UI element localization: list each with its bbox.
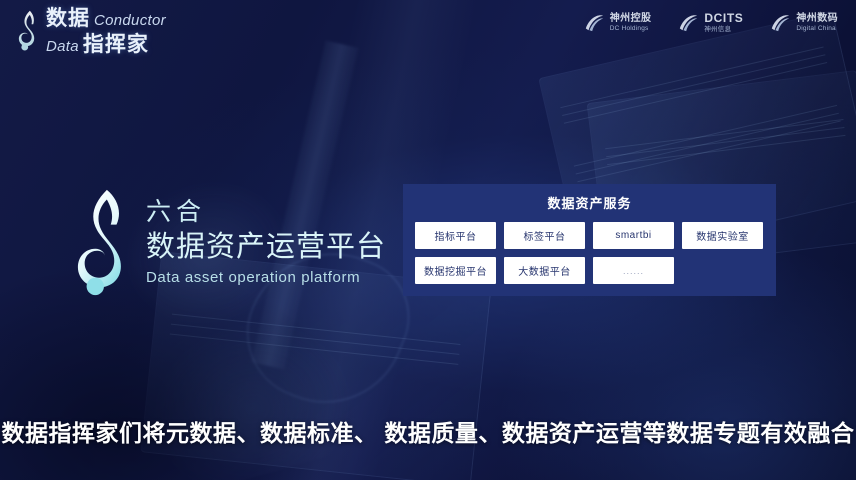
swoosh-icon [583, 13, 605, 33]
brand-text: 数据 Conductor Data 指挥家 [46, 6, 166, 55]
partner-logo-digital-china: 神州数码 Digital China [769, 13, 838, 33]
data-asset-service-panel: 数据资产服务 指标平台 标签平台 smartbi 数据实验室 数据挖掘平台 大数… [403, 184, 776, 296]
partner-name-en: Digital China [796, 25, 838, 32]
product-title: 数据资产运营平台 [146, 229, 386, 265]
partner-text: 神州数码 Digital China [796, 13, 838, 32]
brand-line-1: 数据 Conductor [46, 8, 166, 29]
partner-logos: 神州控股 DC Holdings DCITS 神州信息 神州数码 Digital… [583, 12, 838, 33]
brand-cn-1: 数据 [46, 8, 90, 29]
service-card-tag-platform[interactable]: 标签平台 [504, 222, 585, 249]
service-card-data-mining-platform[interactable]: 数据挖掘平台 [415, 257, 496, 284]
service-card-data-lab[interactable]: 数据实验室 [682, 222, 763, 249]
panel-title: 数据资产服务 [403, 184, 776, 212]
service-card-empty-slot [682, 257, 763, 284]
treble-clef-icon [16, 9, 42, 53]
brand-logo: 数据 Conductor Data 指挥家 [16, 6, 166, 55]
partner-text: 神州控股 DC Holdings [610, 13, 652, 32]
partner-text: DCITS 神州信息 [704, 12, 743, 33]
partner-logo-dcits: DCITS 神州信息 [677, 12, 743, 33]
slide-caption: 数据指挥家们将元数据、数据标准、 数据质量、数据资产运营等数据专题有效融合 [0, 414, 856, 448]
product-titles: 六合 数据资产运营平台 Data asset operation platfor… [146, 198, 386, 286]
product-title-block: 六合 数据资产运营平台 Data asset operation platfor… [74, 186, 386, 298]
brand-cn-2: 指挥家 [83, 34, 149, 55]
treble-clef-icon [74, 186, 132, 298]
service-card-grid: 指标平台 标签平台 smartbi 数据实验室 数据挖掘平台 大数据平台 ...… [403, 212, 776, 284]
service-card-indicator-platform[interactable]: 指标平台 [415, 222, 496, 249]
service-card-big-data-platform[interactable]: 大数据平台 [504, 257, 585, 284]
swoosh-icon [677, 13, 699, 33]
slide-root: 数据 Conductor Data 指挥家 神州控股 DC Holdings [0, 0, 856, 480]
partner-name-cn: 神州数码 [796, 13, 838, 25]
service-card-more[interactable]: ...... [593, 257, 674, 284]
brand-line-2: Data 指挥家 [46, 34, 166, 55]
partner-name-cn: DCITS [704, 12, 743, 26]
swoosh-icon [769, 13, 791, 33]
partner-logo-dc-holdings: 神州控股 DC Holdings [583, 13, 652, 33]
partner-name-en: DC Holdings [610, 25, 652, 32]
product-subtitle: Data asset operation platform [146, 269, 386, 286]
brand-en-2: Data [46, 39, 79, 54]
partner-name-en: 神州信息 [704, 26, 743, 33]
brand-en-1: Conductor [94, 13, 166, 28]
service-card-smartbi[interactable]: smartbi [593, 222, 674, 249]
product-prefix: 六合 [146, 198, 386, 227]
partner-name-cn: 神州控股 [610, 13, 652, 25]
